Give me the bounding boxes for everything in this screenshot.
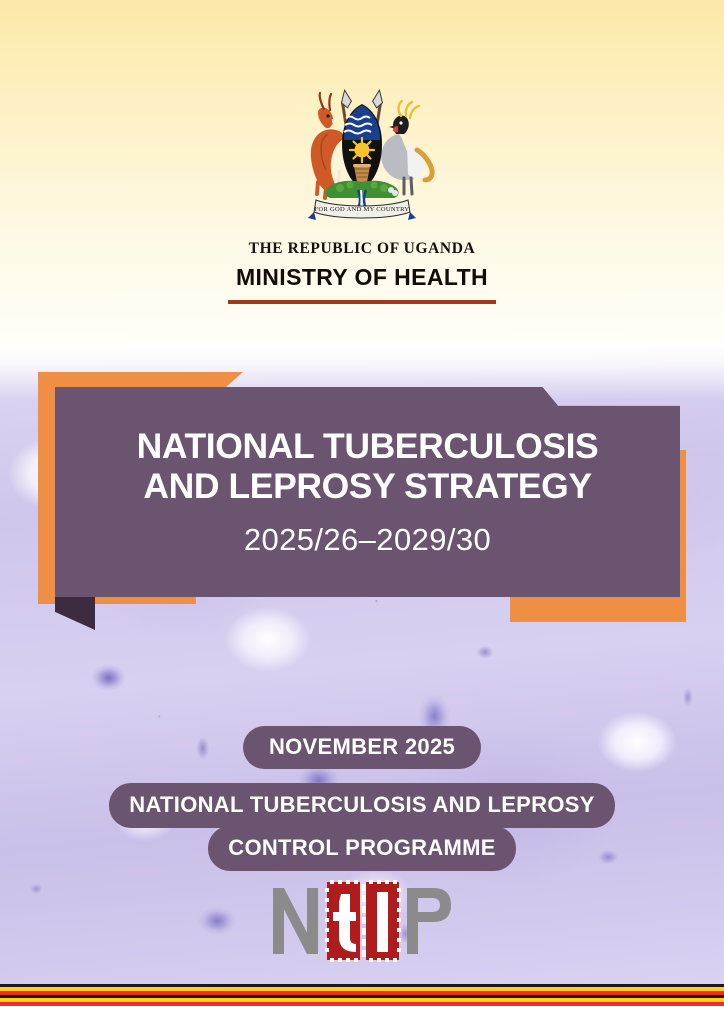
uganda-coat-of-arms-icon: FOR GOD AND MY COUNTRY [274,78,450,230]
ministry-label: MINISTRY OF HEALTH [0,264,724,291]
svg-text:FOR GOD AND MY COUNTRY: FOR GOD AND MY COUNTRY [315,206,410,213]
title-line-2: AND LEPROSY STRATEGY [143,466,591,506]
republic-label: THE REPUBLIC OF UGANDA [0,240,724,258]
flag-band-red-2 [0,1002,724,1006]
logo-letter-n [273,888,318,954]
logo-letter-p [407,888,451,954]
publication-date-pill: NOVEMBER 2025 [243,726,481,769]
crest-crested-crane [381,101,432,194]
crest-shield-sun [350,138,374,162]
crest-kob-antelope [311,93,344,198]
logo-stamp-divider [362,884,366,957]
ntlp-logo-icon [267,872,457,970]
organisation-name-pill-line2: CONTROL PROGRAMME [208,826,515,871]
logo-stamp-right [366,880,401,962]
title-line-1: NATIONAL TUBERCULOSIS [137,426,599,466]
logo-stamp-left [325,880,360,962]
document-cover-page: FOR GOD AND MY COUNTRY THE REPUBLIC OF U… [0,0,724,1024]
crest-shield [342,104,382,190]
masthead: FOR GOD AND MY COUNTRY THE REPUBLIC OF U… [0,78,724,304]
organisation-name-pill-line1: NATIONAL TUBERCULOSIS AND LEPROSY [109,783,614,828]
uganda-flag-strip [0,984,724,1006]
footer-label-group: NOVEMBER 2025 NATIONAL TUBERCULOSIS AND … [0,726,724,871]
title-period: 2025/26–2029/30 [244,522,491,558]
logo-area [0,872,724,970]
title-text-group: NATIONAL TUBERCULOSIS AND LEPROSY STRATE… [55,387,680,597]
crest-mound [326,181,399,208]
title-banner-group: NATIONAL TUBERCULOSIS AND LEPROSY STRATE… [0,372,724,622]
masthead-rule [228,300,496,304]
